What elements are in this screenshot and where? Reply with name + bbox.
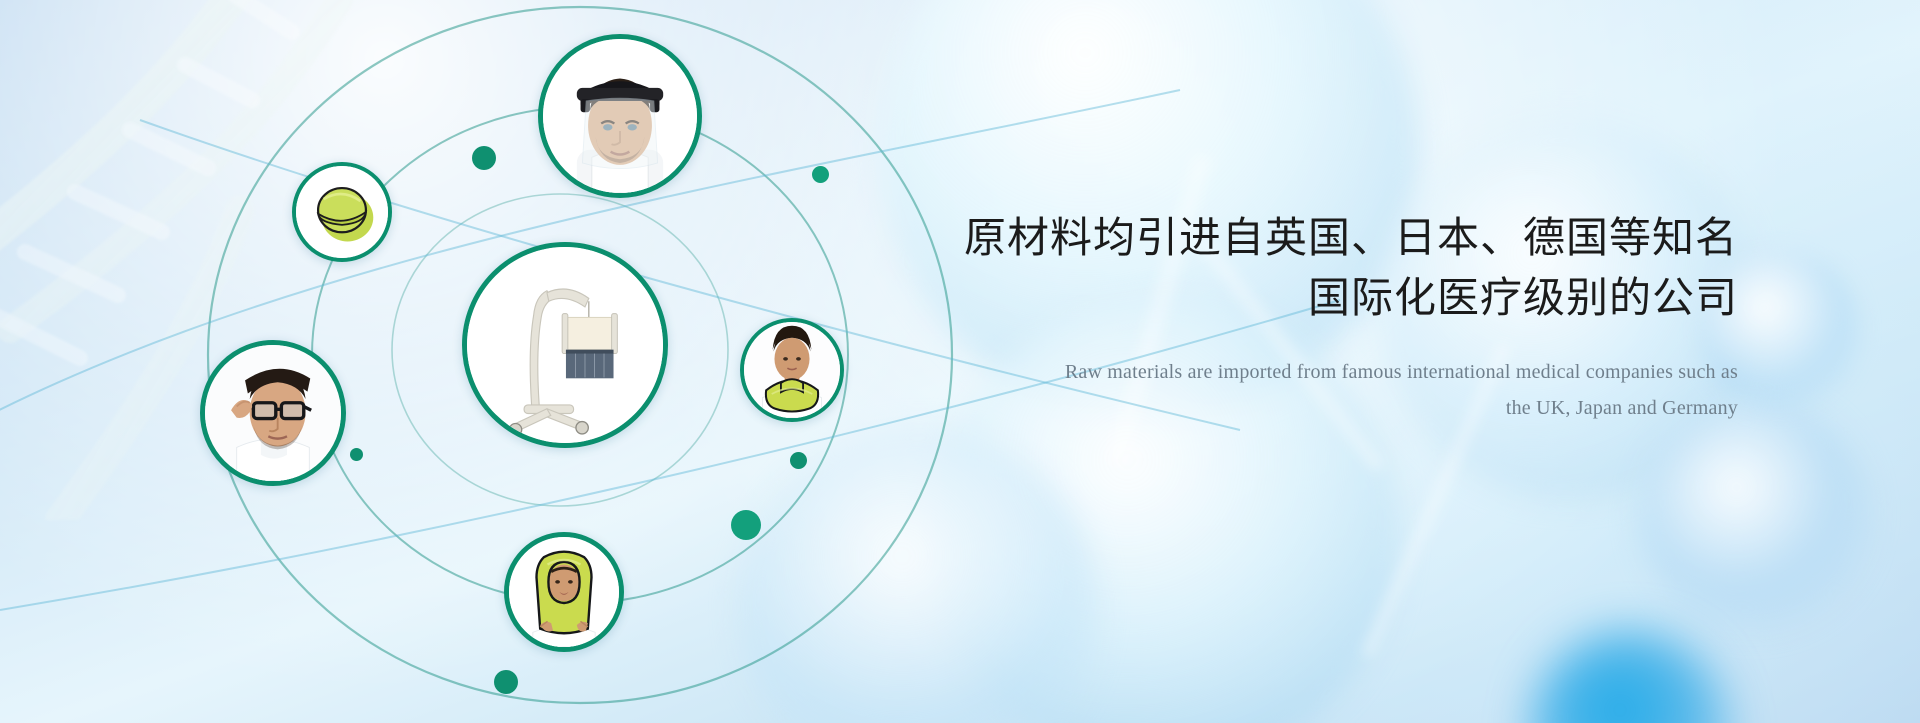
accent-dot <box>731 510 761 540</box>
accent-dot <box>494 670 518 694</box>
accent-dot <box>350 448 363 461</box>
headline-line-1: 原材料均引进自英国、日本、德国等知名 <box>958 208 1738 268</box>
photo-protective-cap[interactable] <box>292 162 392 262</box>
accent-dot <box>790 452 807 469</box>
photo-lead-glasses[interactable] <box>200 340 346 486</box>
hero-text-block: 原材料均引进自英国、日本、德国等知名 国际化医疗级别的公司 Raw materi… <box>958 208 1738 426</box>
hero-banner: 原材料均引进自英国、日本、德国等知名 国际化医疗级别的公司 Raw materi… <box>0 0 1920 723</box>
photo-thyroid-collar[interactable] <box>740 318 844 422</box>
molecule-sphere-blue <box>1530 630 1730 723</box>
accent-dot <box>812 166 829 183</box>
photo-lead-hood[interactable] <box>504 532 624 652</box>
subtitle-line-1: Raw materials are imported from famous i… <box>958 354 1738 390</box>
accent-dot <box>472 146 496 170</box>
subtitle-line-2: the UK, Japan and Germany <box>958 390 1738 426</box>
photo-face-shield[interactable] <box>538 34 702 198</box>
molecule-sphere <box>740 430 1100 723</box>
photo-mobile-x-ray-shield[interactable] <box>462 242 668 448</box>
headline-line-2: 国际化医疗级别的公司 <box>958 268 1738 328</box>
molecule-sphere <box>1640 400 1870 630</box>
